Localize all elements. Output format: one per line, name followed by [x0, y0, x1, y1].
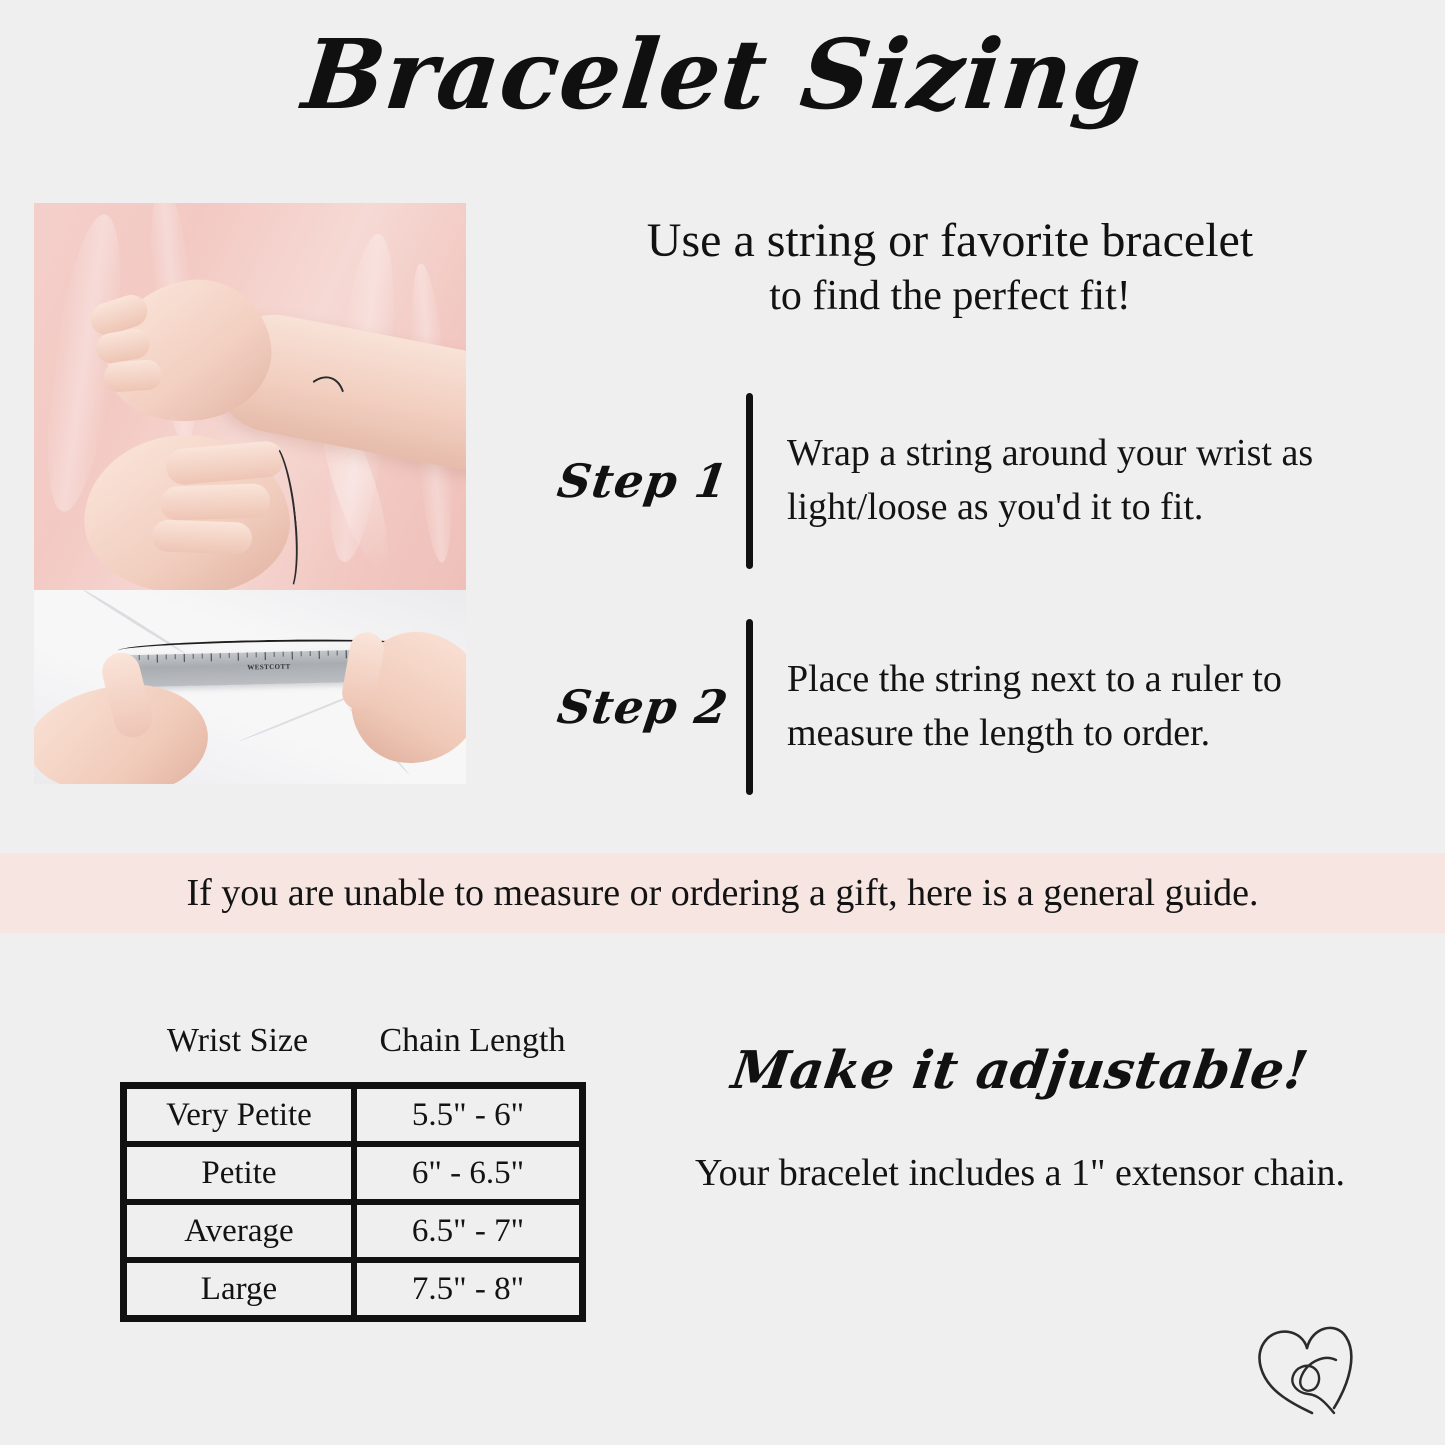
step-1-block: Step 1 Wrap a string around your wrist a… — [548, 393, 1412, 569]
adjustable-block: Make it adjustable! Your bracelet includ… — [640, 1040, 1400, 1195]
step-2-label: Step 2 — [544, 680, 742, 734]
cell-wrist-size: Very Petite — [127, 1089, 357, 1147]
step-2-text: Place the string next to a ruler to meas… — [787, 653, 1412, 761]
heart-icon — [1250, 1318, 1380, 1428]
intro-line-1: Use a string or favorite bracelet — [500, 212, 1400, 271]
ruler-brand-label: WESTCOTT — [247, 663, 290, 672]
table-row: Very Petite 5.5" - 6" — [127, 1089, 579, 1147]
adjustable-subtitle: Your bracelet includes a 1" extensor cha… — [640, 1151, 1400, 1195]
cell-chain-length: 5.5" - 6" — [357, 1089, 579, 1147]
intro-copy: Use a string or favorite bracelet to fin… — [500, 212, 1400, 322]
table-row: Petite 6" - 6.5" — [127, 1147, 579, 1205]
header-chain-length: Chain Length — [355, 1022, 590, 1060]
bracelet-sizing-page: Bracelet Sizing — [0, 0, 1445, 1445]
intro-line-2: to find the perfect fit! — [500, 271, 1400, 322]
step-1-label: Step 1 — [544, 454, 742, 508]
cell-chain-length: 6.5" - 7" — [357, 1205, 579, 1263]
adjustable-title: Make it adjustable! — [636, 1040, 1405, 1101]
general-guide-banner: If you are unable to measure or ordering… — [0, 853, 1445, 933]
size-table-block: Wrist Size Chain Length Very Petite 5.5"… — [120, 1022, 590, 1322]
size-table: Very Petite 5.5" - 6" Petite 6" - 6.5" A… — [120, 1082, 586, 1322]
wrist-measuring-photo — [34, 203, 466, 590]
ruler-measuring-photo: WESTCOTT — [34, 590, 466, 784]
header-wrist-size: Wrist Size — [120, 1022, 355, 1060]
step-1-text: Wrap a string around your wrist as light… — [787, 427, 1412, 535]
cell-chain-length: 7.5" - 8" — [357, 1263, 579, 1315]
table-row: Large 7.5" - 8" — [127, 1263, 579, 1315]
size-table-headers: Wrist Size Chain Length — [120, 1022, 590, 1060]
cell-wrist-size: Large — [127, 1263, 357, 1315]
cell-wrist-size: Petite — [127, 1147, 357, 1205]
step-2-divider — [746, 619, 753, 795]
table-row: Average 6.5" - 7" — [127, 1205, 579, 1263]
step-2-block: Step 2 Place the string next to a ruler … — [548, 619, 1412, 795]
general-guide-text: If you are unable to measure or ordering… — [187, 871, 1259, 915]
page-title: Bracelet Sizing — [0, 18, 1445, 131]
heart-logo — [1250, 1318, 1380, 1428]
cell-chain-length: 6" - 6.5" — [357, 1147, 579, 1205]
cell-wrist-size: Average — [127, 1205, 357, 1263]
step-1-divider — [746, 393, 753, 569]
